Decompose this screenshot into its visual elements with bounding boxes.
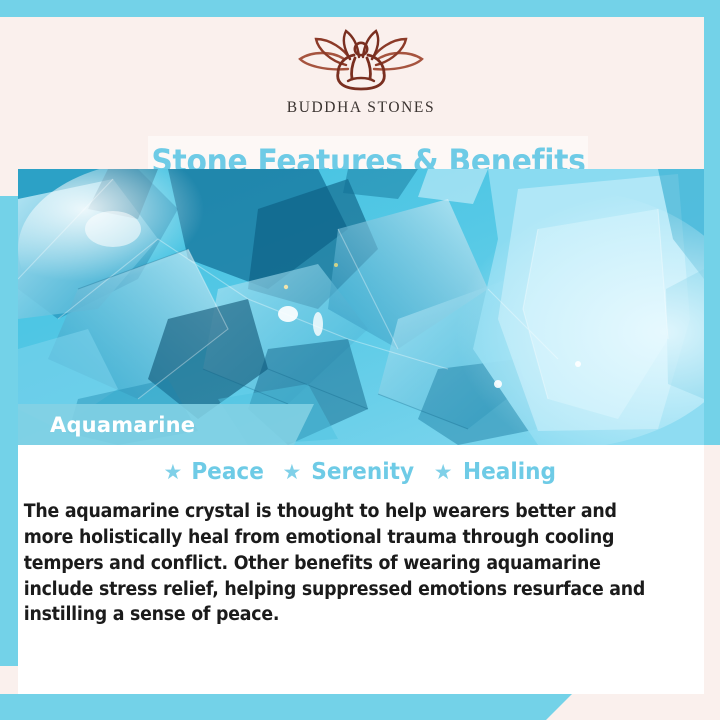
header-section: BUDDHA STONES Stone Features & Benefits (18, 17, 704, 169)
benefit-item-0: ★ Peace (163, 459, 266, 485)
benefit-item-1: ★ Serenity (283, 459, 418, 485)
brand-name: BUDDHA STONES (287, 99, 435, 117)
lotus-meditation-icon (286, 25, 436, 97)
star-icon: ★ (434, 462, 453, 483)
benefit-label-serenity: Serenity (312, 459, 415, 485)
top-accent-band (0, 0, 720, 17)
star-icon: ★ (163, 462, 182, 483)
benefits-row: ★ Peace ★ Serenity ★ Healing (18, 445, 704, 485)
body-section: ★ Peace ★ Serenity ★ Healing The aquamar… (18, 445, 704, 670)
stone-name-banner: Aquamarine (18, 404, 294, 445)
benefit-label-healing: Healing (463, 459, 556, 485)
benefit-item-2: ★ Healing (434, 459, 559, 485)
stone-description: The aquamarine crystal is thought to hel… (18, 485, 673, 628)
stone-name-label: Aquamarine (50, 413, 195, 437)
benefit-label-peace: Peace (192, 459, 265, 485)
right-accent-band (704, 0, 720, 445)
bottom-accent-band (0, 694, 546, 720)
brand-logo-block: BUDDHA STONES (18, 25, 704, 117)
left-accent-band (0, 196, 18, 666)
infographic-page: BUDDHA STONES Stone Features & Benefits (0, 0, 720, 720)
star-icon: ★ (283, 462, 302, 483)
